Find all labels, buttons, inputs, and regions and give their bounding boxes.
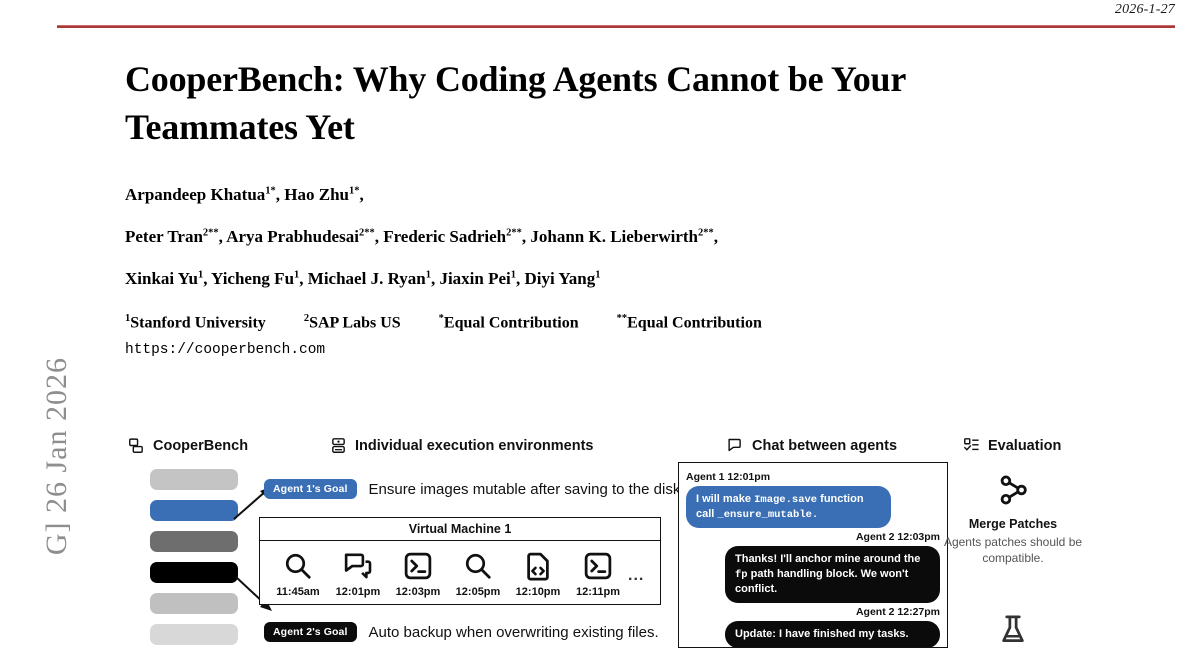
author-separator: , — [360, 185, 364, 204]
figure-column-heading-environments: Individual execution environments — [330, 437, 594, 454]
terminal-icon — [403, 551, 433, 581]
benchmark-task-bar — [150, 624, 238, 645]
search-icon — [463, 551, 493, 581]
affiliation-item: *Equal Contribution — [439, 313, 579, 332]
terminal-icon — [583, 551, 613, 581]
affiliation-marker: ** — [617, 313, 628, 324]
virtual-machine-step-time: 12:10pm — [508, 586, 568, 598]
figure-column-label: Chat between agents — [752, 438, 897, 454]
checklist-icon — [963, 437, 980, 454]
virtual-machine-step[interactable]: 12:05pm — [448, 548, 508, 598]
figure-column-label: Evaluation — [988, 438, 1061, 454]
author-line: Peter Tran2**, Arya Prabhudesai2**, Fred… — [125, 227, 1085, 247]
affiliation-item: **Equal Contribution — [617, 313, 762, 332]
chat-bubbles-icon — [343, 551, 373, 581]
chat-message-meta: Agent 2 12:03pm — [686, 531, 940, 543]
agent1-goal-text: Ensure images mutable after saving to th… — [369, 481, 685, 498]
author-name: Arpandeep Khatua1* — [125, 185, 276, 204]
virtual-machine-panel: Virtual Machine 1 11:45am12:01pm12:03pm1… — [259, 517, 661, 605]
evaluation-item-desc: Agents patches should be compatible. — [938, 535, 1088, 566]
author-name: Peter Tran2** — [125, 227, 219, 246]
virtual-machine-step[interactable]: 12:03pm — [388, 548, 448, 598]
author-affiliation-marker: 2** — [203, 227, 219, 238]
author-separator: , — [203, 269, 211, 288]
author-name: Michael J. Ryan1 — [308, 269, 431, 288]
header-date: 2026-1-27 — [1115, 2, 1175, 18]
figure-column-label: CooperBench — [153, 438, 248, 454]
author-separator: , — [375, 227, 384, 246]
chat-message-bubble: I will make Image.save function call _en… — [686, 486, 891, 528]
affiliation-line: 1Stanford University2SAP Labs US*Equal C… — [125, 313, 1085, 332]
chat-text: Thanks! I'll anchor mine around the — [735, 553, 920, 565]
figure-column-label: Individual execution environments — [355, 438, 594, 454]
virtual-machine-step[interactable]: 12:01pm — [328, 548, 388, 598]
virtual-machine-step-time: 12:01pm — [328, 586, 388, 598]
chat-message-meta: Agent 1 12:01pm — [686, 471, 940, 483]
affiliation-label: Equal Contribution — [627, 314, 762, 331]
author-affiliation-marker: 2** — [506, 227, 522, 238]
chat-code-token: fp — [735, 569, 748, 581]
header-rule — [57, 25, 1175, 28]
author-name: Johann K. Lieberwirth2** — [530, 227, 713, 246]
page-title: CooperBench: Why Coding Agents Cannot be… — [125, 56, 1025, 151]
git-merge-icon — [996, 473, 1030, 507]
virtual-machine-step-time: 12:11pm — [568, 586, 628, 598]
author-separator: , — [276, 185, 285, 204]
author-name: Yicheng Fu1 — [211, 269, 299, 288]
virtual-machine-step[interactable]: 11:45am — [268, 548, 328, 598]
agent2-goal-row: Agent 2's Goal Auto backup when overwrit… — [264, 622, 659, 642]
virtual-machine-timeline: 11:45am12:01pm12:03pm12:05pm12:10pm12:11… — [260, 541, 660, 598]
author-name: Hao Zhu1* — [284, 185, 359, 204]
author-line: Xinkai Yu1, Yicheng Fu1, Michael J. Ryan… — [125, 269, 1085, 289]
agent1-goal-row: Agent 1's Goal Ensure images mutable aft… — [264, 479, 685, 499]
copy-stack-icon — [128, 437, 145, 454]
agent2-goal-text: Auto backup when overwriting existing fi… — [369, 624, 659, 641]
chat-text: path handling block. We won't conflict. — [735, 568, 908, 595]
evaluation-item-merge-patches: Merge Patches Agents patches should be c… — [938, 473, 1088, 566]
affiliation-item: 2SAP Labs US — [304, 313, 401, 332]
chat-bubbles-icon — [727, 437, 744, 454]
benchmark-task-bars — [150, 469, 238, 648]
author-separator: , — [299, 269, 308, 288]
figure-column-heading-chat: Chat between agents — [727, 437, 897, 454]
chat-message-meta: Agent 2 12:27pm — [686, 606, 940, 618]
code-file-icon — [523, 551, 553, 581]
author-affiliation-marker: 2** — [698, 227, 714, 238]
affiliation-item: 1Stanford University — [125, 313, 266, 332]
chat-code-token: _ensure_mutable. — [717, 509, 818, 521]
author-separator: , — [516, 269, 525, 288]
figure-column-heading-cooperbench: CooperBench — [128, 437, 248, 454]
benchmark-task-bar — [150, 469, 238, 490]
chat-message-bubble: Thanks! I'll anchor mine around the fp p… — [725, 546, 940, 603]
author-line: Arpandeep Khatua1*, Hao Zhu1*, — [125, 185, 1085, 205]
author-affiliation-marker: 1* — [265, 185, 276, 196]
evaluation-item-title: Merge Patches — [938, 517, 1088, 531]
author-affiliation-marker: 1 — [595, 269, 600, 280]
agent1-goal-badge: Agent 1's Goal — [264, 479, 357, 499]
figure-column-heading-evaluation: Evaluation — [963, 437, 1061, 454]
author-affiliation-marker: 2** — [359, 227, 375, 238]
affiliation-label: Equal Contribution — [444, 314, 579, 331]
server-icon — [330, 437, 347, 454]
author-affiliation-marker: 1* — [349, 185, 360, 196]
affiliation-label: SAP Labs US — [309, 314, 401, 331]
virtual-machine-step-time: 11:45am — [268, 586, 328, 598]
author-name: Frederic Sadrieh2** — [383, 227, 522, 246]
chat-message-bubble: Update: I have finished my tasks. — [725, 621, 940, 648]
benchmark-task-bar — [150, 593, 238, 614]
paper-url[interactable]: https://cooperbench.com — [125, 342, 325, 358]
author-name: Arya Prabhudesai2** — [226, 227, 374, 246]
evaluation-item-tests — [938, 613, 1088, 648]
benchmark-task-bar — [150, 500, 238, 521]
virtual-machine-step-time: 12:05pm — [448, 586, 508, 598]
virtual-machine-more-steps[interactable]: ... — [628, 567, 644, 585]
chat-text: Update: I have finished my tasks. — [735, 628, 909, 640]
virtual-machine-step[interactable]: 12:10pm — [508, 548, 568, 598]
author-name: Xinkai Yu1 — [125, 269, 203, 288]
chat-code-token: Image.save — [754, 494, 817, 506]
flask-icon — [998, 613, 1028, 647]
search-icon — [283, 551, 313, 581]
virtual-machine-step-time: 12:03pm — [388, 586, 448, 598]
author-separator: , — [714, 227, 718, 246]
virtual-machine-step[interactable]: 12:11pm — [568, 548, 628, 598]
author-name: Jiaxin Pei1 — [439, 269, 516, 288]
author-name: Diyi Yang1 — [525, 269, 601, 288]
agent2-goal-badge: Agent 2's Goal — [264, 622, 357, 642]
author-block: Arpandeep Khatua1*, Hao Zhu1*, Peter Tra… — [125, 185, 1085, 311]
virtual-machine-title: Virtual Machine 1 — [260, 518, 660, 541]
paper-page: 2026-1-27 G] 26 Jan 2026 CooperBench: Wh… — [0, 0, 1200, 648]
agent-chat-panel[interactable]: Agent 1 12:01pmI will make Image.save fu… — [678, 462, 948, 648]
chat-text: I will make — [696, 493, 754, 505]
benchmark-task-bar — [150, 531, 238, 552]
teaser-figure: CooperBench Individual execution environ… — [0, 425, 1200, 648]
affiliation-label: Stanford University — [130, 314, 266, 331]
benchmark-task-bar — [150, 562, 238, 583]
